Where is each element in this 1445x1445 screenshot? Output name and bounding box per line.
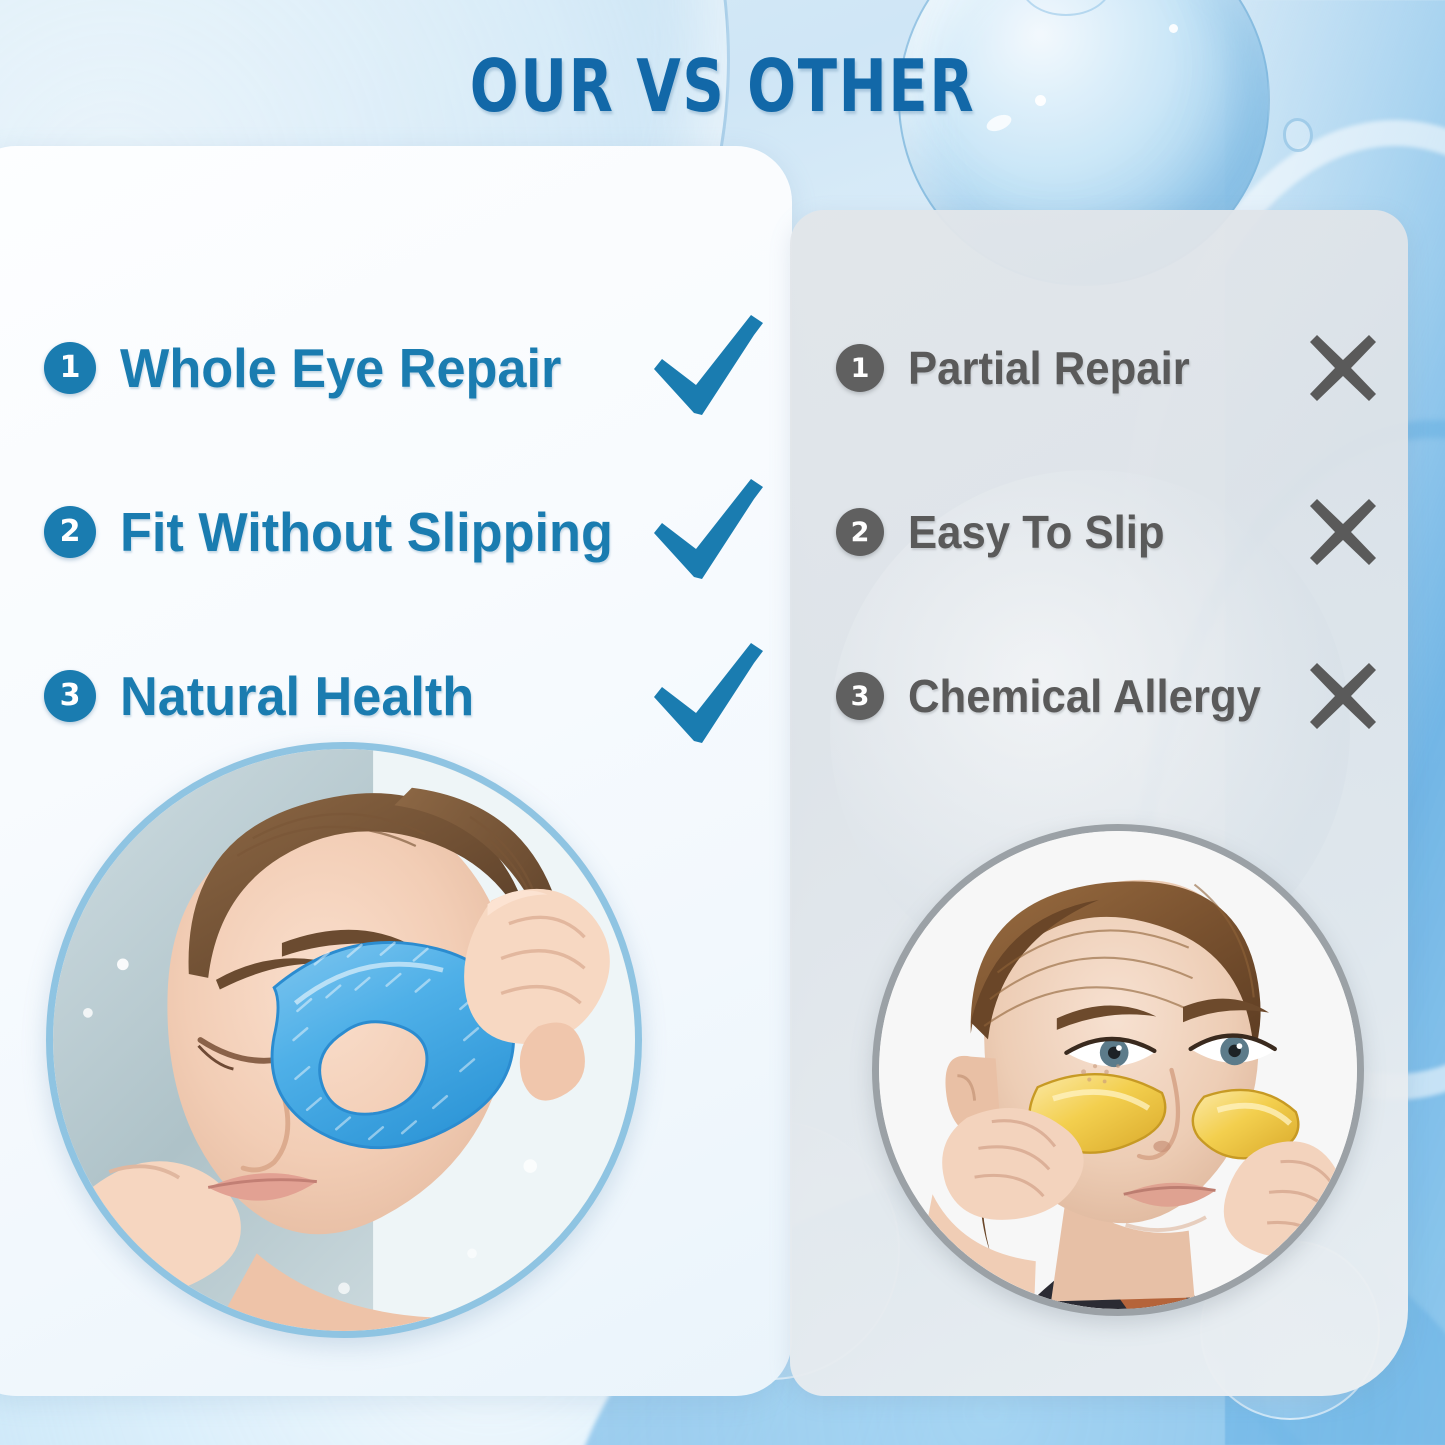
list-item-label: Chemical Allergy	[908, 669, 1261, 723]
list-item-label: Partial Repair	[908, 341, 1190, 395]
item-number-badge: 3	[44, 670, 96, 722]
item-number-badge: 2	[836, 508, 884, 556]
list-item[interactable]: 3 Chemical Allergy	[836, 614, 1388, 778]
photo-woman-blue-gel-eye-mask-icon	[53, 749, 635, 1331]
item-number-badge: 2	[44, 506, 96, 558]
ours-product-photo	[46, 742, 642, 1338]
check-icon	[650, 477, 766, 587]
photo-woman-gold-under-eye-patches-icon	[879, 831, 1357, 1309]
ours-feature-list: 1 Whole Eye Repair 2 Fit Without Slippin…	[44, 286, 784, 778]
list-item[interactable]: 2 Easy To Slip	[836, 450, 1388, 614]
item-number-badge: 3	[836, 672, 884, 720]
page-title: OUR VS OTHER	[145, 44, 1301, 128]
other-feature-list: 1 Partial Repair 2 Easy To Slip 3 Chemic…	[836, 286, 1388, 778]
list-item[interactable]: 1 Whole Eye Repair	[44, 286, 784, 450]
cross-icon	[1304, 329, 1382, 407]
item-number-badge: 1	[44, 342, 96, 394]
water-droplet-highlight-icon	[1020, 0, 1112, 16]
list-item-label: Easy To Slip	[908, 505, 1165, 559]
item-number-badge: 1	[836, 344, 884, 392]
infographic-canvas: OUR VS OTHER 1 Whole Eye Repair 2 Fit Wi…	[0, 0, 1445, 1445]
list-item-label: Fit Without Slipping	[120, 500, 613, 564]
check-icon	[650, 641, 766, 751]
cross-icon	[1304, 657, 1382, 735]
check-icon	[650, 313, 766, 423]
sparkle-icon	[1169, 24, 1178, 33]
list-item-label: Natural Health	[120, 664, 474, 728]
cross-icon	[1304, 493, 1382, 571]
list-item[interactable]: 1 Partial Repair	[836, 286, 1388, 450]
other-product-photo	[872, 824, 1364, 1316]
list-item[interactable]: 2 Fit Without Slipping	[44, 450, 784, 614]
list-item-label: Whole Eye Repair	[120, 336, 561, 400]
